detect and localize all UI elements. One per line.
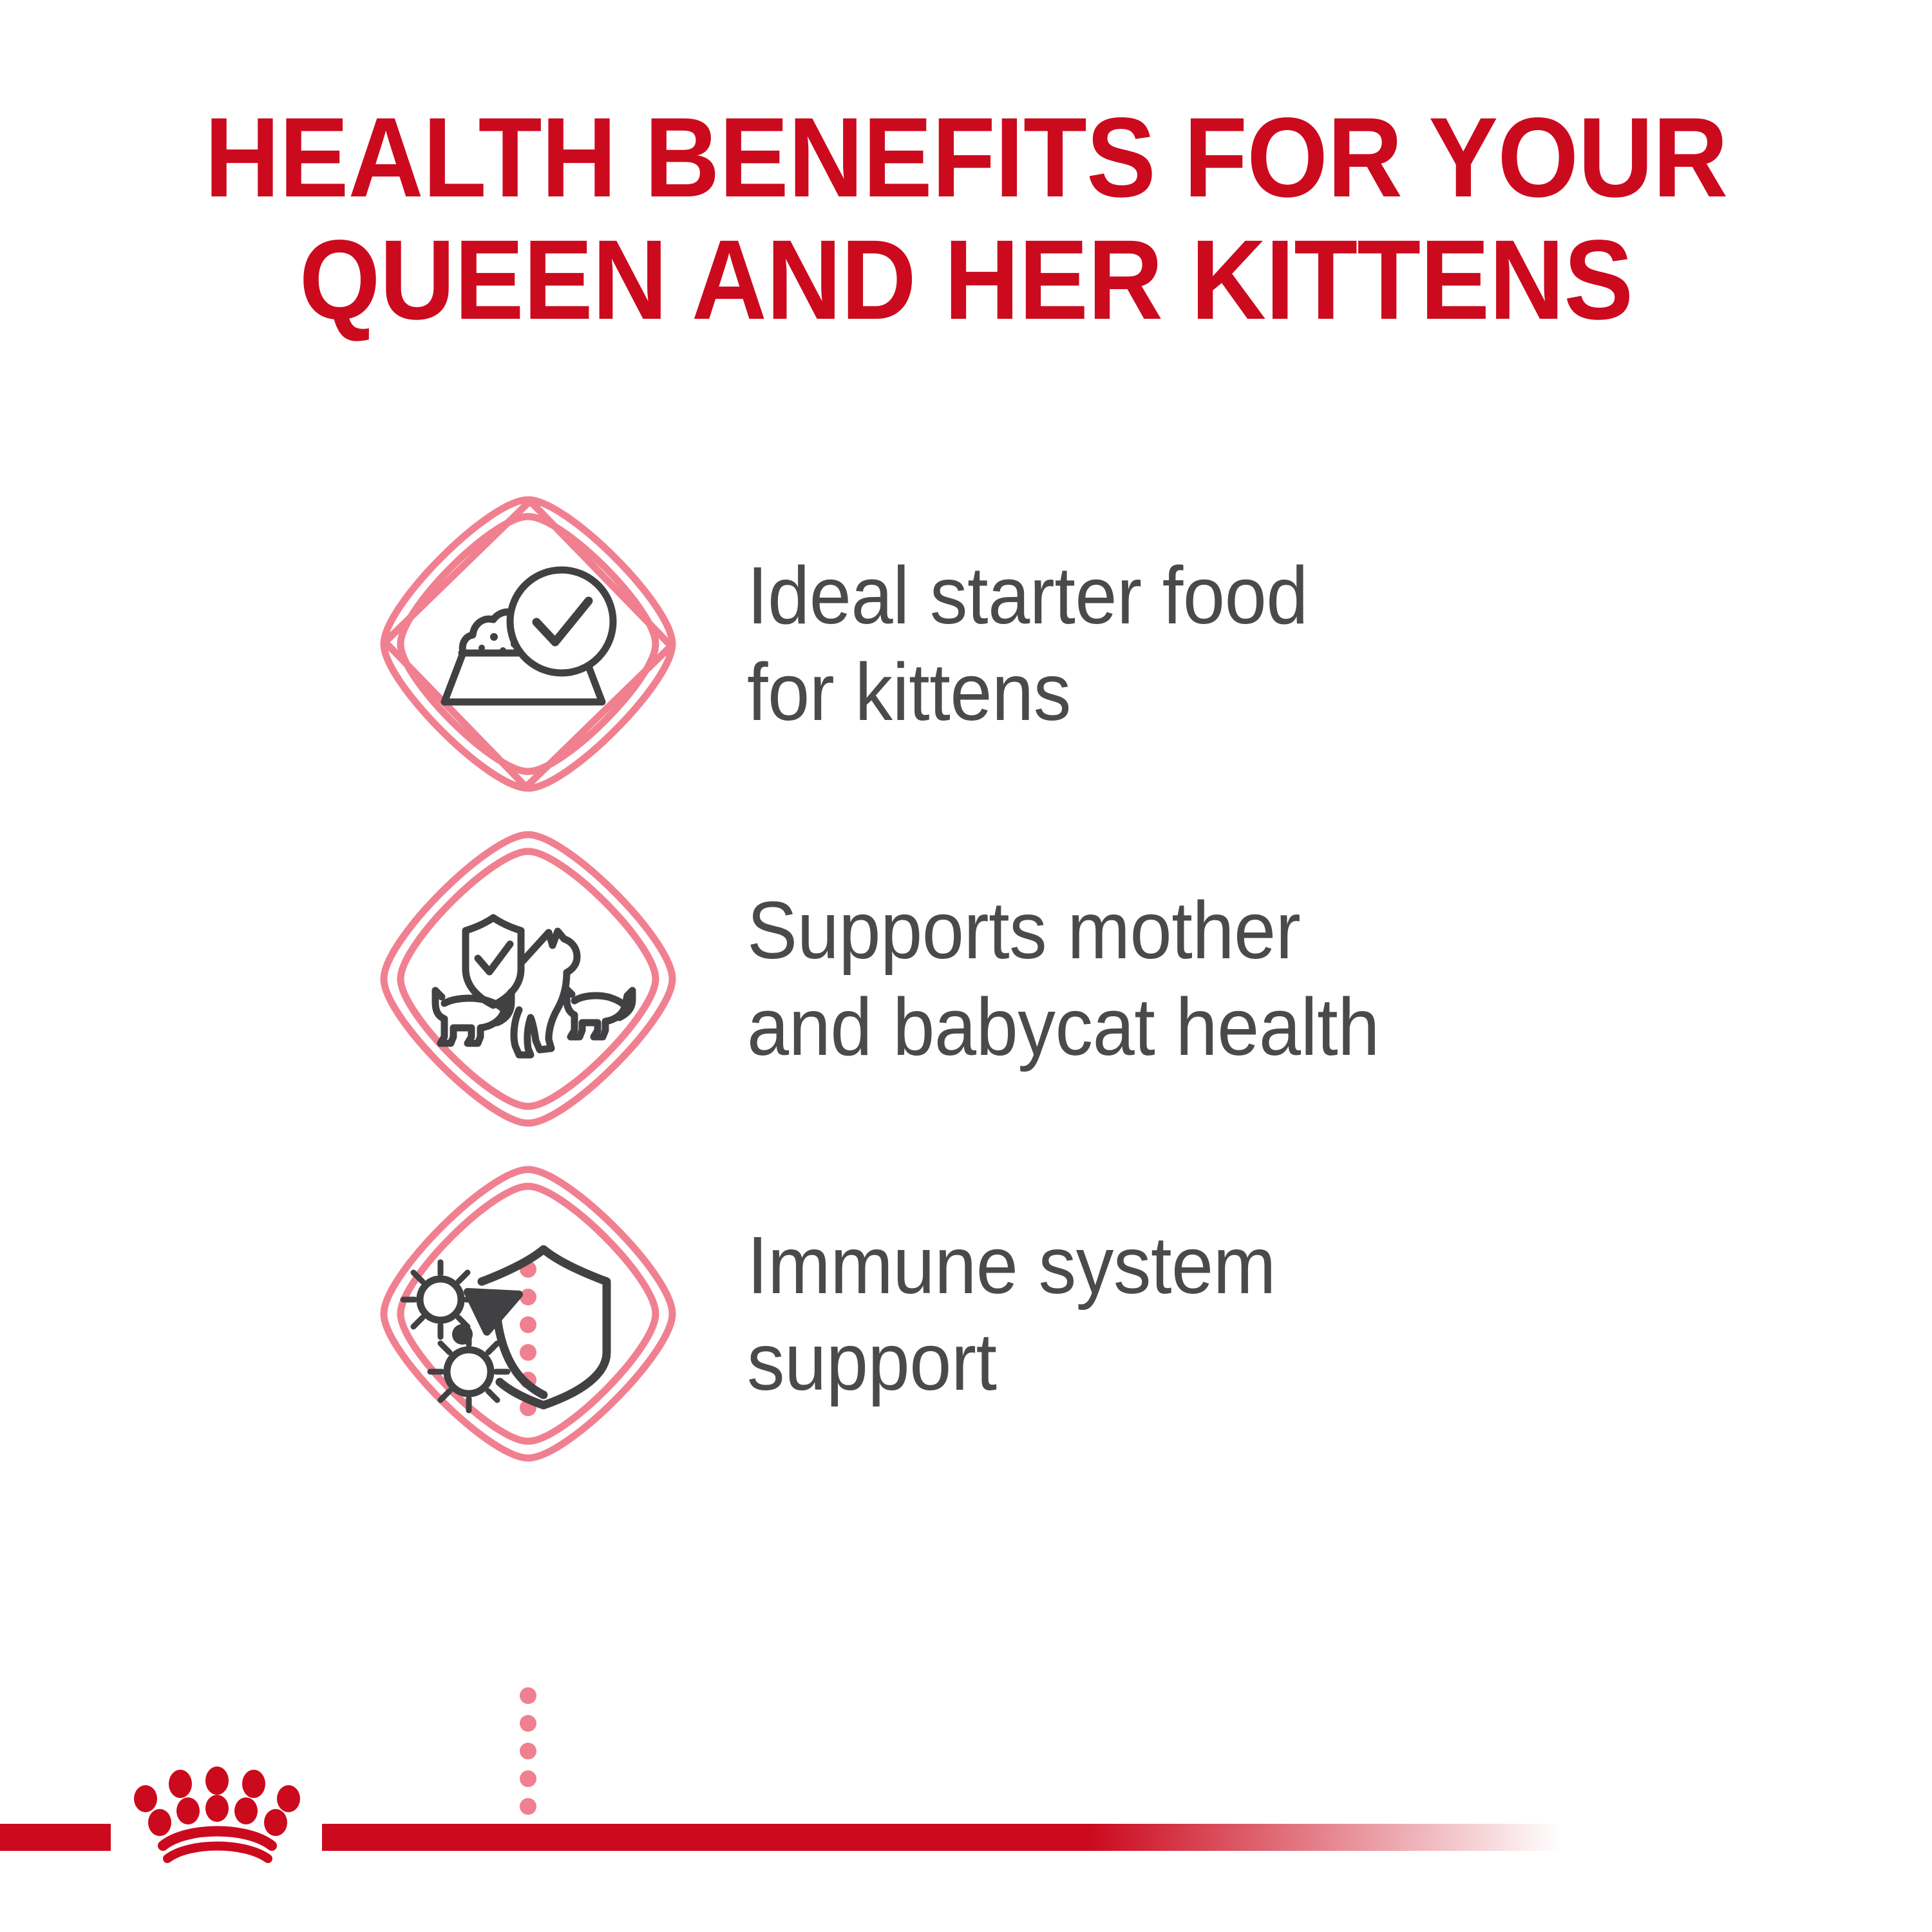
benefit-text-1-line-1: Ideal starter food [747,547,1308,644]
benefit-text-2: Supports mother and babycat health [747,882,1379,1075]
footer-bar-left [0,1824,111,1851]
food-bowl-check-icon [374,489,683,799]
benefit-text-1: Ideal starter food for kittens [747,547,1308,741]
benefit-text-1-line-2: for kittens [747,644,1308,741]
footer [0,1739,1932,1932]
benefit-text-2-line-1: Supports mother [747,882,1379,979]
connector-dot [520,1715,536,1732]
benefit-text-3: Immune system support [747,1217,1276,1410]
health-benefits-page: HEALTH BENEFITS FOR YOUR QUEEN AND HER K… [0,0,1932,1932]
connector-dot [520,1687,536,1704]
page-title-line-1: HEALTH BENEFITS FOR YOUR [77,97,1855,219]
benefit-item-3: Immune system support [0,1146,1932,1481]
benefits-list: Ideal starter food for kittens [0,477,1932,1481]
royal-canin-crown-logo [122,1752,328,1880]
shield-germs-icon [374,1159,683,1468]
page-title-line-2: QUEEN AND HER KITTENS [77,219,1855,341]
page-title: HEALTH BENEFITS FOR YOUR QUEEN AND HER K… [0,97,1932,341]
benefit-item-1: Ideal starter food for kittens [0,477,1932,811]
benefit-text-3-line-2: support [747,1314,1276,1410]
footer-bar-right [322,1824,1562,1851]
shield-cat-kittens-icon [374,824,683,1133]
benefit-text-3-line-1: Immune system [747,1217,1276,1314]
benefit-item-2: Supports mother and babycat health [0,811,1932,1146]
benefit-text-2-line-2: and babycat health [747,979,1379,1075]
